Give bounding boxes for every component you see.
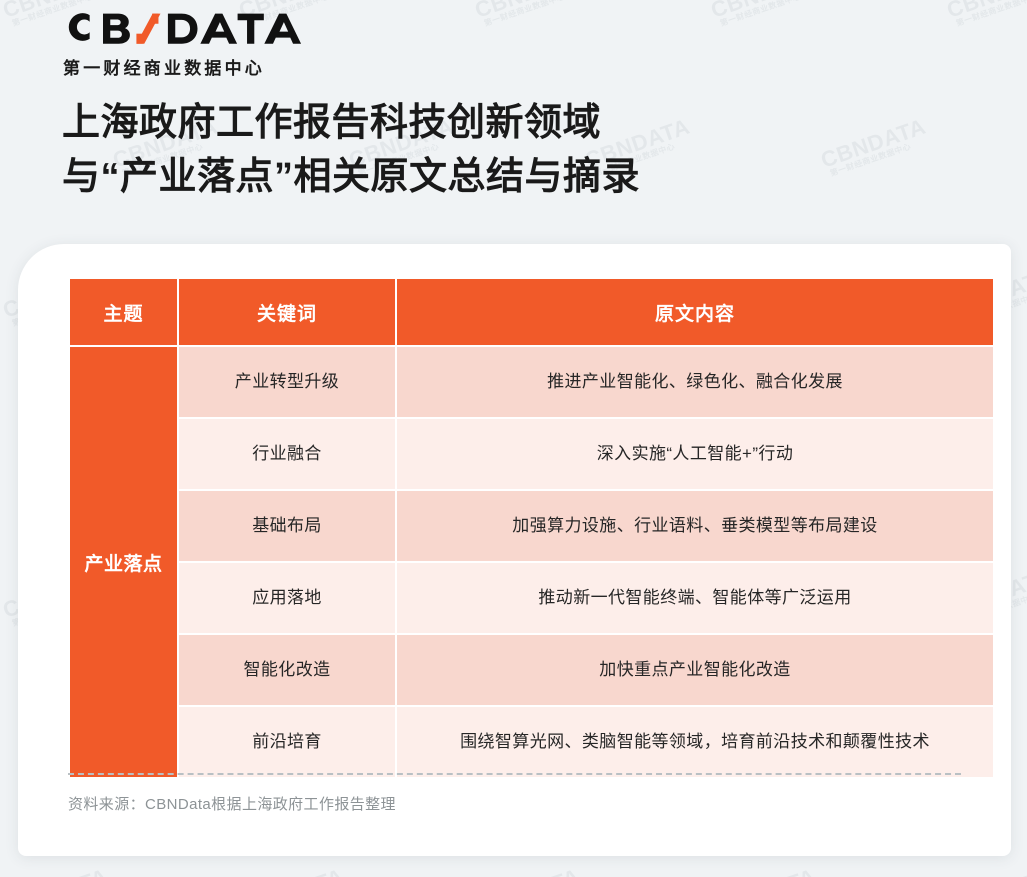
brand-subtitle: 第一财经商业数据中心 xyxy=(61,54,361,79)
keyword-cell: 行业融合 xyxy=(179,419,395,489)
source-note: 资料来源：CBNData根据上海政府工作报告整理 xyxy=(68,793,396,814)
column-header-keyword: 关键词 xyxy=(179,279,395,345)
content-cell: 推进产业智能化、绿色化、融合化发展 xyxy=(397,347,993,417)
column-header-content: 原文内容 xyxy=(397,279,993,345)
table-row: 行业融合 深入实施“人工智能+”行动 xyxy=(70,419,993,489)
summary-table-wrapper: 主题 关键词 原文内容 产业落点 产业转型升级 推进产业智能化、绿色化、融合化发… xyxy=(68,277,987,779)
page-title-line-2: 与“产业落点”相关原文总结与摘录 xyxy=(62,151,640,205)
column-header-theme: 主题 xyxy=(70,279,177,345)
brand-logo: 第一财经商业数据中心 xyxy=(61,6,361,79)
table-head: 主题 关键词 原文内容 xyxy=(70,279,993,345)
keyword-cell: 基础布局 xyxy=(179,491,395,561)
table-row: 应用落地 推动新一代智能终端、智能体等广泛运用 xyxy=(70,563,993,633)
table-row: 基础布局 加强算力设施、行业语料、垂类模型等布局建设 xyxy=(70,491,993,561)
content-cell: 围绕智算光网、类脑智能等领域，培育前沿技术和颠覆性技术 xyxy=(397,707,993,777)
cbndata-wordmark-icon xyxy=(61,6,357,48)
footer-divider xyxy=(68,773,961,775)
table-header-row: 主题 关键词 原文内容 xyxy=(70,279,993,345)
table-row: 前沿培育 围绕智算光网、类脑智能等领域，培育前沿技术和颠覆性技术 xyxy=(70,707,993,777)
keyword-cell: 智能化改造 xyxy=(179,635,395,705)
content-cell: 加快重点产业智能化改造 xyxy=(397,635,993,705)
table-body: 产业落点 产业转型升级 推进产业智能化、绿色化、融合化发展 行业融合 深入实施“… xyxy=(70,347,993,777)
summary-table: 主题 关键词 原文内容 产业落点 产业转型升级 推进产业智能化、绿色化、融合化发… xyxy=(68,277,995,779)
infographic-page: 第一财经商业数据中心 上海政府工作报告科技创新领域 与“产业落点”相关原文总结与… xyxy=(0,0,1027,877)
theme-cell-industry-landing: 产业落点 xyxy=(70,347,177,777)
table-row: 智能化改造 加快重点产业智能化改造 xyxy=(70,635,993,705)
content-cell: 深入实施“人工智能+”行动 xyxy=(397,419,993,489)
keyword-cell: 产业转型升级 xyxy=(179,347,395,417)
content-cell: 加强算力设施、行业语料、垂类模型等布局建设 xyxy=(397,491,993,561)
page-title: 上海政府工作报告科技创新领域 与“产业落点”相关原文总结与摘录 xyxy=(62,97,640,205)
content-cell: 推动新一代智能终端、智能体等广泛运用 xyxy=(397,563,993,633)
table-row: 产业落点 产业转型升级 推进产业智能化、绿色化、融合化发展 xyxy=(70,347,993,417)
keyword-cell: 前沿培育 xyxy=(179,707,395,777)
keyword-cell: 应用落地 xyxy=(179,563,395,633)
page-title-line-1: 上海政府工作报告科技创新领域 xyxy=(62,97,640,151)
